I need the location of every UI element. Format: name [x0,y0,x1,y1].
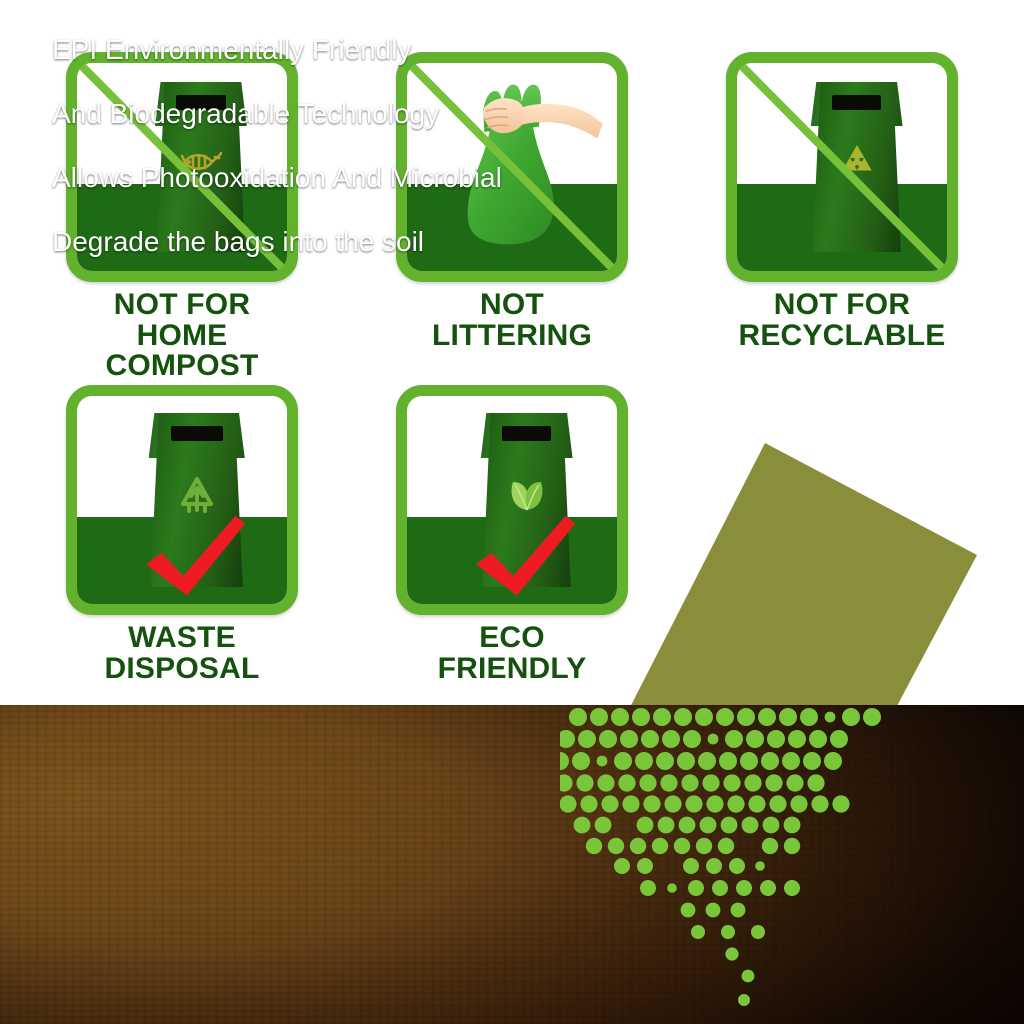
soil-line-3: Allows Photooxidation And Microbial [52,164,672,192]
tile-frame [66,385,298,615]
degrading-dots-funnel [560,700,1024,1024]
bin-slot [832,95,881,110]
olive-bag-sheet [600,415,1024,725]
soil-message: EPI Environmentally Friendly And Biodegr… [52,36,672,256]
soil-line-4: Degrade the bags into the soil [52,228,672,256]
bin-slot [171,426,223,442]
bin-slot [502,426,551,442]
tile-caption: ECO FRIENDLY [396,623,628,684]
tile-caption: NOT FOR RECYCLABLE [726,290,958,351]
tile-caption: NOT LITTERING [396,290,628,351]
infographic-canvas: NOT FOR HOME COMPOST [0,0,1024,1024]
icon-tile-not-for-recyclable[interactable]: NOT FOR RECYCLABLE [726,52,958,352]
tile-caption: WASTE DISPOSAL [66,623,298,684]
icon-tile-eco-friendly[interactable]: ECO FRIENDLY [396,385,628,685]
trash-bin-icon [813,82,901,253]
tile-frame [726,52,958,282]
recycle-icon [836,142,878,182]
leaves-icon [507,478,547,512]
approved-check-icon [140,510,251,597]
tile-frame [396,385,628,615]
soil-line-1: EPI Environmentally Friendly [52,36,672,64]
approved-check-icon [470,510,581,597]
icon-tile-waste-disposal[interactable]: WASTE DISPOSAL [66,385,298,685]
soil-line-2: And Biodegradable Technology [52,100,672,128]
tile-caption: NOT FOR HOME COMPOST [66,290,298,382]
